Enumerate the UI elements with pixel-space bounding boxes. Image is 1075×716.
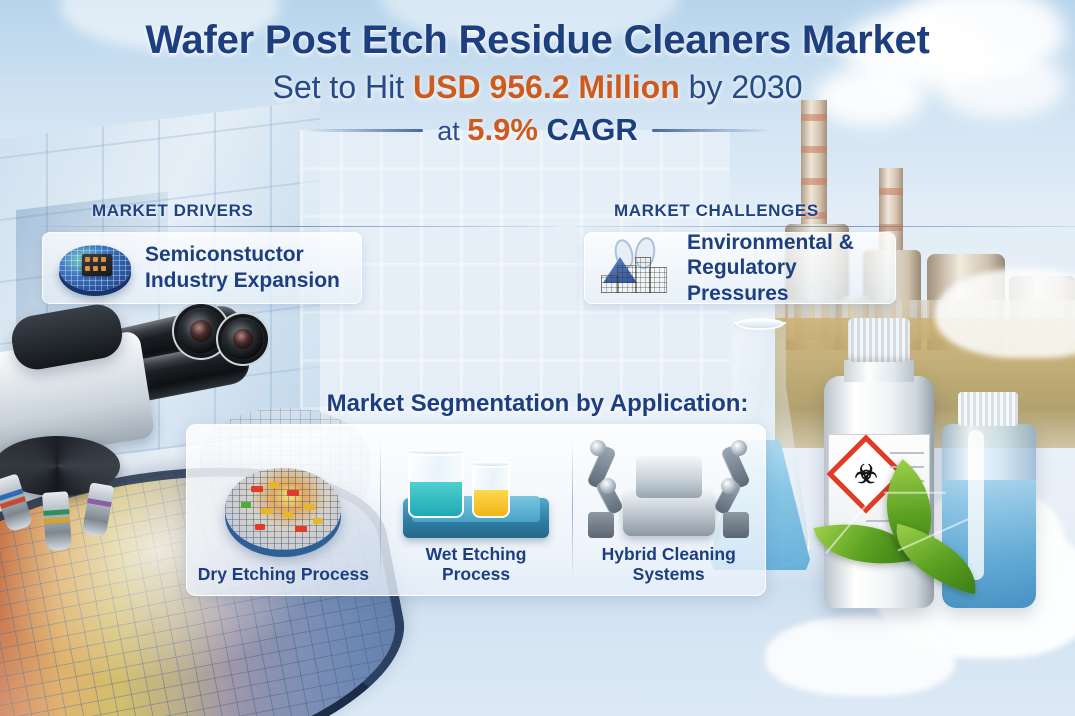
segment-label-line1: Dry Etching Process [198, 564, 369, 585]
market-challenges-label: Environmental & Regulatory Pressures [687, 230, 879, 307]
beakers-tray-icon [380, 436, 573, 544]
segment-label-line2: Process [426, 564, 527, 585]
drivers-label-line2: Industry Expansion [145, 268, 340, 294]
green-leaves [818, 470, 1008, 610]
segment-wet-etching[interactable]: Wet Etching Process [380, 425, 573, 595]
header-block: Wafer Post Etch Residue Cleaners Market … [0, 18, 1075, 148]
challenges-rule [576, 226, 1075, 227]
clear-bottle-blue-liquid [940, 392, 1040, 608]
cagr-prefix: at [437, 116, 467, 146]
segment-label: Wet Etching Process [426, 544, 527, 585]
segment-dry-etching[interactable]: Dry Etching Process [187, 425, 380, 595]
hazard-glyph: ☣ [843, 451, 889, 497]
white-powder-pile [875, 518, 1075, 658]
cagr-line: at 5.9% CAGR [0, 112, 1075, 148]
drivers-label-line1: Semiconstuctor [145, 242, 340, 268]
cagr-value: 5.9% [467, 112, 538, 147]
segment-hybrid-cleaning[interactable]: Hybrid Cleaning Systems [572, 425, 765, 595]
segment-label: Dry Etching Process [198, 564, 369, 585]
chemical-bottle-hazard-label: ☣ [818, 318, 938, 608]
robotic-arm-tool-icon [572, 436, 765, 544]
segment-label: Hybrid Cleaning Systems [602, 544, 736, 585]
market-value: USD 956.2 Million [413, 69, 680, 105]
segment-label-line2: Systems [602, 564, 736, 585]
white-powder-pile [935, 268, 1075, 358]
challenges-label-line2: Regulatory Pressures [687, 255, 879, 306]
divider-dash-left [305, 129, 423, 132]
subtitle-prefix: Set to Hit [273, 69, 414, 105]
infographic-canvas: ☣ Wafer Post Etch Residue Cleaners Marke… [0, 0, 1075, 716]
market-challenges-heading: MARKET CHALLENGES [614, 201, 819, 221]
semiconductor-wafer-icon [59, 239, 131, 297]
market-challenges-card: Environmental & Regulatory Pressures [584, 232, 896, 304]
silicon-wafer-map-icon [187, 456, 380, 564]
market-drivers-card: Semiconstuctor Industry Expansion [42, 232, 362, 304]
golden-field-background [775, 318, 1075, 448]
drivers-rule [38, 226, 558, 227]
white-powder-pile [765, 616, 955, 696]
subtitle-suffix: by 2030 [680, 69, 803, 105]
cagr-suffix: CAGR [538, 112, 638, 147]
segmentation-title: Market Segmentation by Application: [0, 390, 1075, 418]
segmentation-panel: Dry Etching Process Wet Etching Process [186, 424, 766, 596]
divider-dash-right [652, 129, 770, 132]
segment-label-line1: Hybrid Cleaning [602, 544, 736, 565]
page-title: Wafer Post Etch Residue Cleaners Market [0, 18, 1075, 63]
white-powder-pile [915, 486, 1065, 596]
challenges-label-line1: Environmental & [687, 230, 879, 256]
factory-emissions-icon [601, 239, 673, 297]
segment-label-line1: Wet Etching [426, 544, 527, 565]
cagr-text: at 5.9% CAGR [437, 112, 638, 148]
market-drivers-label: Semiconstuctor Industry Expansion [145, 242, 340, 293]
hazard-symbol-icon: ☣ [826, 434, 905, 513]
subtitle-value-line: Set to Hit USD 956.2 Million by 2030 [0, 69, 1075, 106]
market-drivers-heading: MARKET DRIVERS [92, 201, 253, 221]
